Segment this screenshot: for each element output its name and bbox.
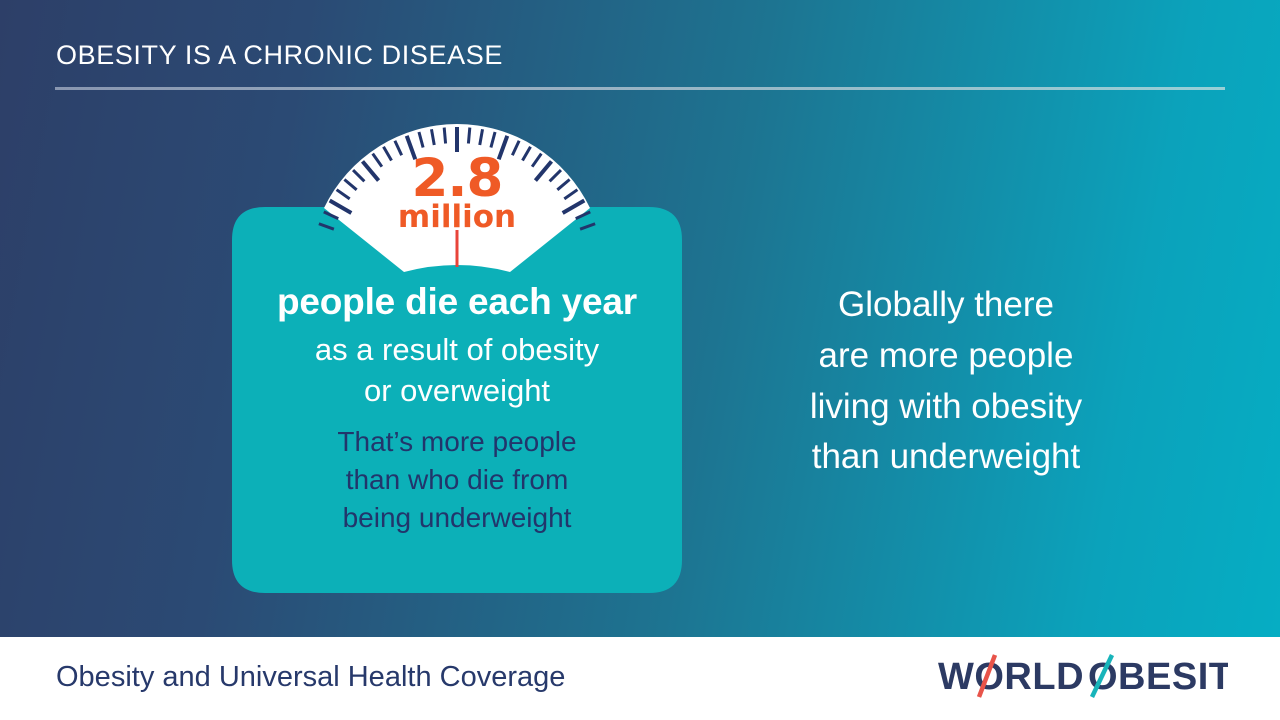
right-statement: Globally there are more people living wi… bbox=[722, 280, 1170, 483]
dial-value: 2.8 bbox=[327, 152, 587, 205]
scale-note-2: than who die from bbox=[212, 461, 702, 499]
right-statement-line-2: are more people bbox=[722, 331, 1170, 382]
logo-word-world: WORLD bbox=[938, 656, 1084, 698]
right-statement-line-3: living with obesity bbox=[722, 382, 1170, 433]
scale-note-3: being underweight bbox=[212, 499, 702, 537]
scale-subline-2: or overweight bbox=[212, 370, 702, 411]
right-statement-line-1: Globally there bbox=[722, 280, 1170, 331]
scale-headline: people die each year bbox=[212, 282, 702, 323]
dial-unit: million bbox=[327, 202, 587, 233]
scale-text-block: people die each year as a result of obes… bbox=[212, 282, 702, 537]
scale-note-1: That’s more people bbox=[212, 423, 702, 461]
page-title: OBESITY IS A CHRONIC DISEASE bbox=[56, 40, 503, 71]
scale-subline-1: as a result of obesity bbox=[212, 329, 702, 370]
weighing-scale-graphic: 2.8 million people die each year as a re… bbox=[212, 122, 702, 600]
world-obesity-logo: WORLD OBESITY bbox=[938, 653, 1228, 701]
slide-root: OBESITY IS A CHRONIC DISEASE bbox=[0, 0, 1280, 720]
title-divider bbox=[55, 87, 1225, 90]
footer-caption: Obesity and Universal Health Coverage bbox=[56, 661, 565, 694]
right-statement-line-4: than underweight bbox=[722, 432, 1170, 483]
footer-bar: Obesity and Universal Health Coverage WO… bbox=[0, 637, 1280, 720]
